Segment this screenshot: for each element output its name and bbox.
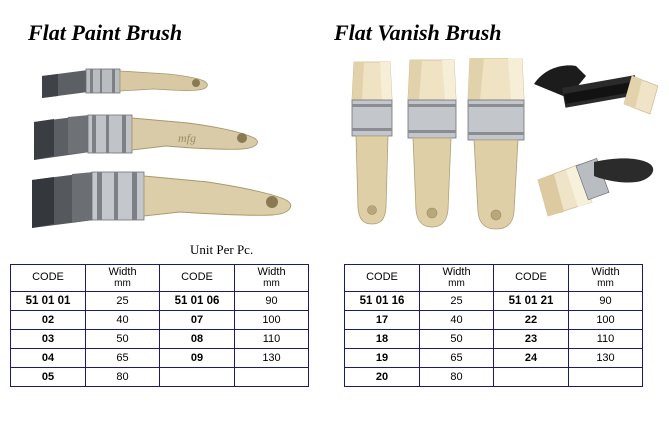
table-row: 02 40 07 100 [11, 311, 309, 330]
catalog-page: Flat Paint Brush [0, 0, 669, 429]
left-spec-table: CODE Width mm CODE Width mm 51 01 01 25 [10, 264, 309, 387]
flat-paint-brush-illustration: mfg [28, 58, 298, 238]
svg-text:mfg: mfg [178, 131, 196, 145]
cell-width-1: 25 [86, 292, 160, 311]
cell-code-1: 19 [345, 349, 420, 368]
header-width-2-label: Width [591, 266, 619, 278]
cell-code-1: 03 [11, 330, 86, 349]
cell-code-1: 18 [345, 330, 420, 349]
header-width-2-label: Width [257, 266, 285, 278]
cell-code-1: 20 [345, 368, 420, 387]
header-width-1-unit: mm [86, 279, 159, 290]
cell-code-2: 24 [494, 349, 569, 368]
cell-width-1: 25 [420, 292, 494, 311]
cell-width-1: 65 [420, 349, 494, 368]
table-header-row: CODE Width mm CODE Width mm [345, 265, 643, 292]
cell-code-2: 07 [160, 311, 235, 330]
cell-width-1: 50 [420, 330, 494, 349]
cell-width-2: 100 [569, 311, 643, 330]
flat-vanish-brush-illustration [334, 58, 664, 253]
header-width-1: Width mm [420, 265, 494, 292]
header-code-2: CODE [494, 265, 569, 292]
header-width-1-label: Width [108, 266, 136, 278]
cell-code-1: 02 [11, 311, 86, 330]
table-header-row: CODE Width mm CODE Width mm [11, 265, 309, 292]
cell-code-1: 05 [11, 368, 86, 387]
table-row: 51 01 01 25 51 01 06 90 [11, 292, 309, 311]
cell-code-2 [160, 368, 235, 387]
header-width-2-unit: mm [569, 279, 642, 290]
table-row: 19 65 24 130 [345, 349, 643, 368]
cell-code-1: 51 01 01 [11, 292, 86, 311]
cell-width-1: 80 [86, 368, 160, 387]
right-spec-table: CODE Width mm CODE Width mm 51 01 16 25 [344, 264, 643, 387]
header-code-2: CODE [160, 265, 235, 292]
header-width-1: Width mm [86, 265, 160, 292]
cell-width-2: 110 [235, 330, 309, 349]
cell-width-2: 100 [235, 311, 309, 330]
cell-width-1: 80 [420, 368, 494, 387]
table-row: 03 50 08 110 [11, 330, 309, 349]
table-row: 18 50 23 110 [345, 330, 643, 349]
left-panel: Flat Paint Brush [0, 0, 334, 429]
cell-code-2: 22 [494, 311, 569, 330]
cell-width-1: 65 [86, 349, 160, 368]
cell-code-2: 51 01 06 [160, 292, 235, 311]
cell-code-1: 51 01 16 [345, 292, 420, 311]
cell-code-2 [494, 368, 569, 387]
right-panel: Flat Vanish Brush [334, 0, 669, 429]
header-width-1-unit: mm [420, 279, 493, 290]
header-width-1-label: Width [442, 266, 470, 278]
cell-width-2 [569, 368, 643, 387]
header-width-2-unit: mm [235, 279, 308, 290]
table-row: 20 80 [345, 368, 643, 387]
left-panel-title: Flat Paint Brush [28, 20, 182, 46]
cell-code-1: 04 [11, 349, 86, 368]
header-code-1: CODE [11, 265, 86, 292]
cell-width-1: 40 [86, 311, 160, 330]
table-row: 05 80 [11, 368, 309, 387]
cell-width-2 [235, 368, 309, 387]
cell-width-1: 40 [420, 311, 494, 330]
cell-code-2: 51 01 21 [494, 292, 569, 311]
header-width-2: Width mm [235, 265, 309, 292]
table-row: 51 01 16 25 51 01 21 90 [345, 292, 643, 311]
cell-width-2: 90 [235, 292, 309, 311]
header-width-2: Width mm [569, 265, 643, 292]
right-panel-title: Flat Vanish Brush [334, 20, 502, 46]
cell-width-2: 130 [235, 349, 309, 368]
cell-width-2: 130 [569, 349, 643, 368]
cell-width-2: 110 [569, 330, 643, 349]
unit-per-piece-label: Unit Per Pc. [190, 242, 253, 258]
cell-width-1: 50 [86, 330, 160, 349]
cell-code-2: 23 [494, 330, 569, 349]
cell-code-2: 09 [160, 349, 235, 368]
table-row: 04 65 09 130 [11, 349, 309, 368]
table-row: 17 40 22 100 [345, 311, 643, 330]
cell-width-2: 90 [569, 292, 643, 311]
header-code-1: CODE [345, 265, 420, 292]
cell-code-1: 17 [345, 311, 420, 330]
cell-code-2: 08 [160, 330, 235, 349]
